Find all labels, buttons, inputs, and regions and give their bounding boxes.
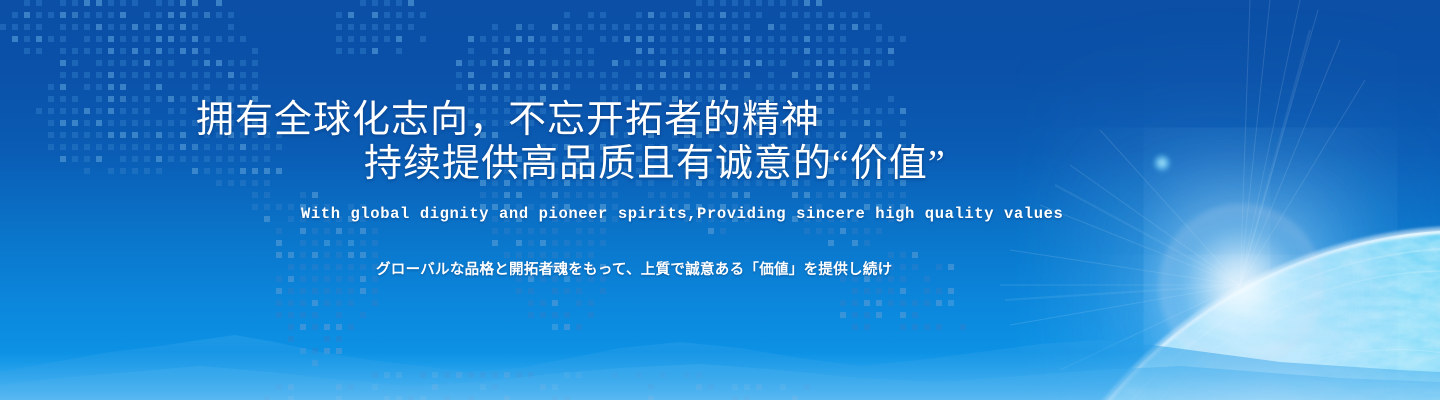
- headline-line-2: 持续提供高品质且有诚意的“价值”: [364, 132, 946, 187]
- hero-banner: 拥有全球化志向，不忘开拓者的精神 持续提供高品质且有诚意的“价值” With g…: [0, 0, 1440, 400]
- subtitle-japanese: グローバルな品格と開拓者魂をもって、上質で誠意ある「価値」を提供し続け: [376, 258, 892, 279]
- banner-text-block: 拥有全球化志向，不忘开拓者的精神 持续提供高品质且有诚意的“价值” With g…: [0, 0, 1440, 400]
- subtitle-english: With global dignity and pioneer spirits,…: [301, 205, 1063, 223]
